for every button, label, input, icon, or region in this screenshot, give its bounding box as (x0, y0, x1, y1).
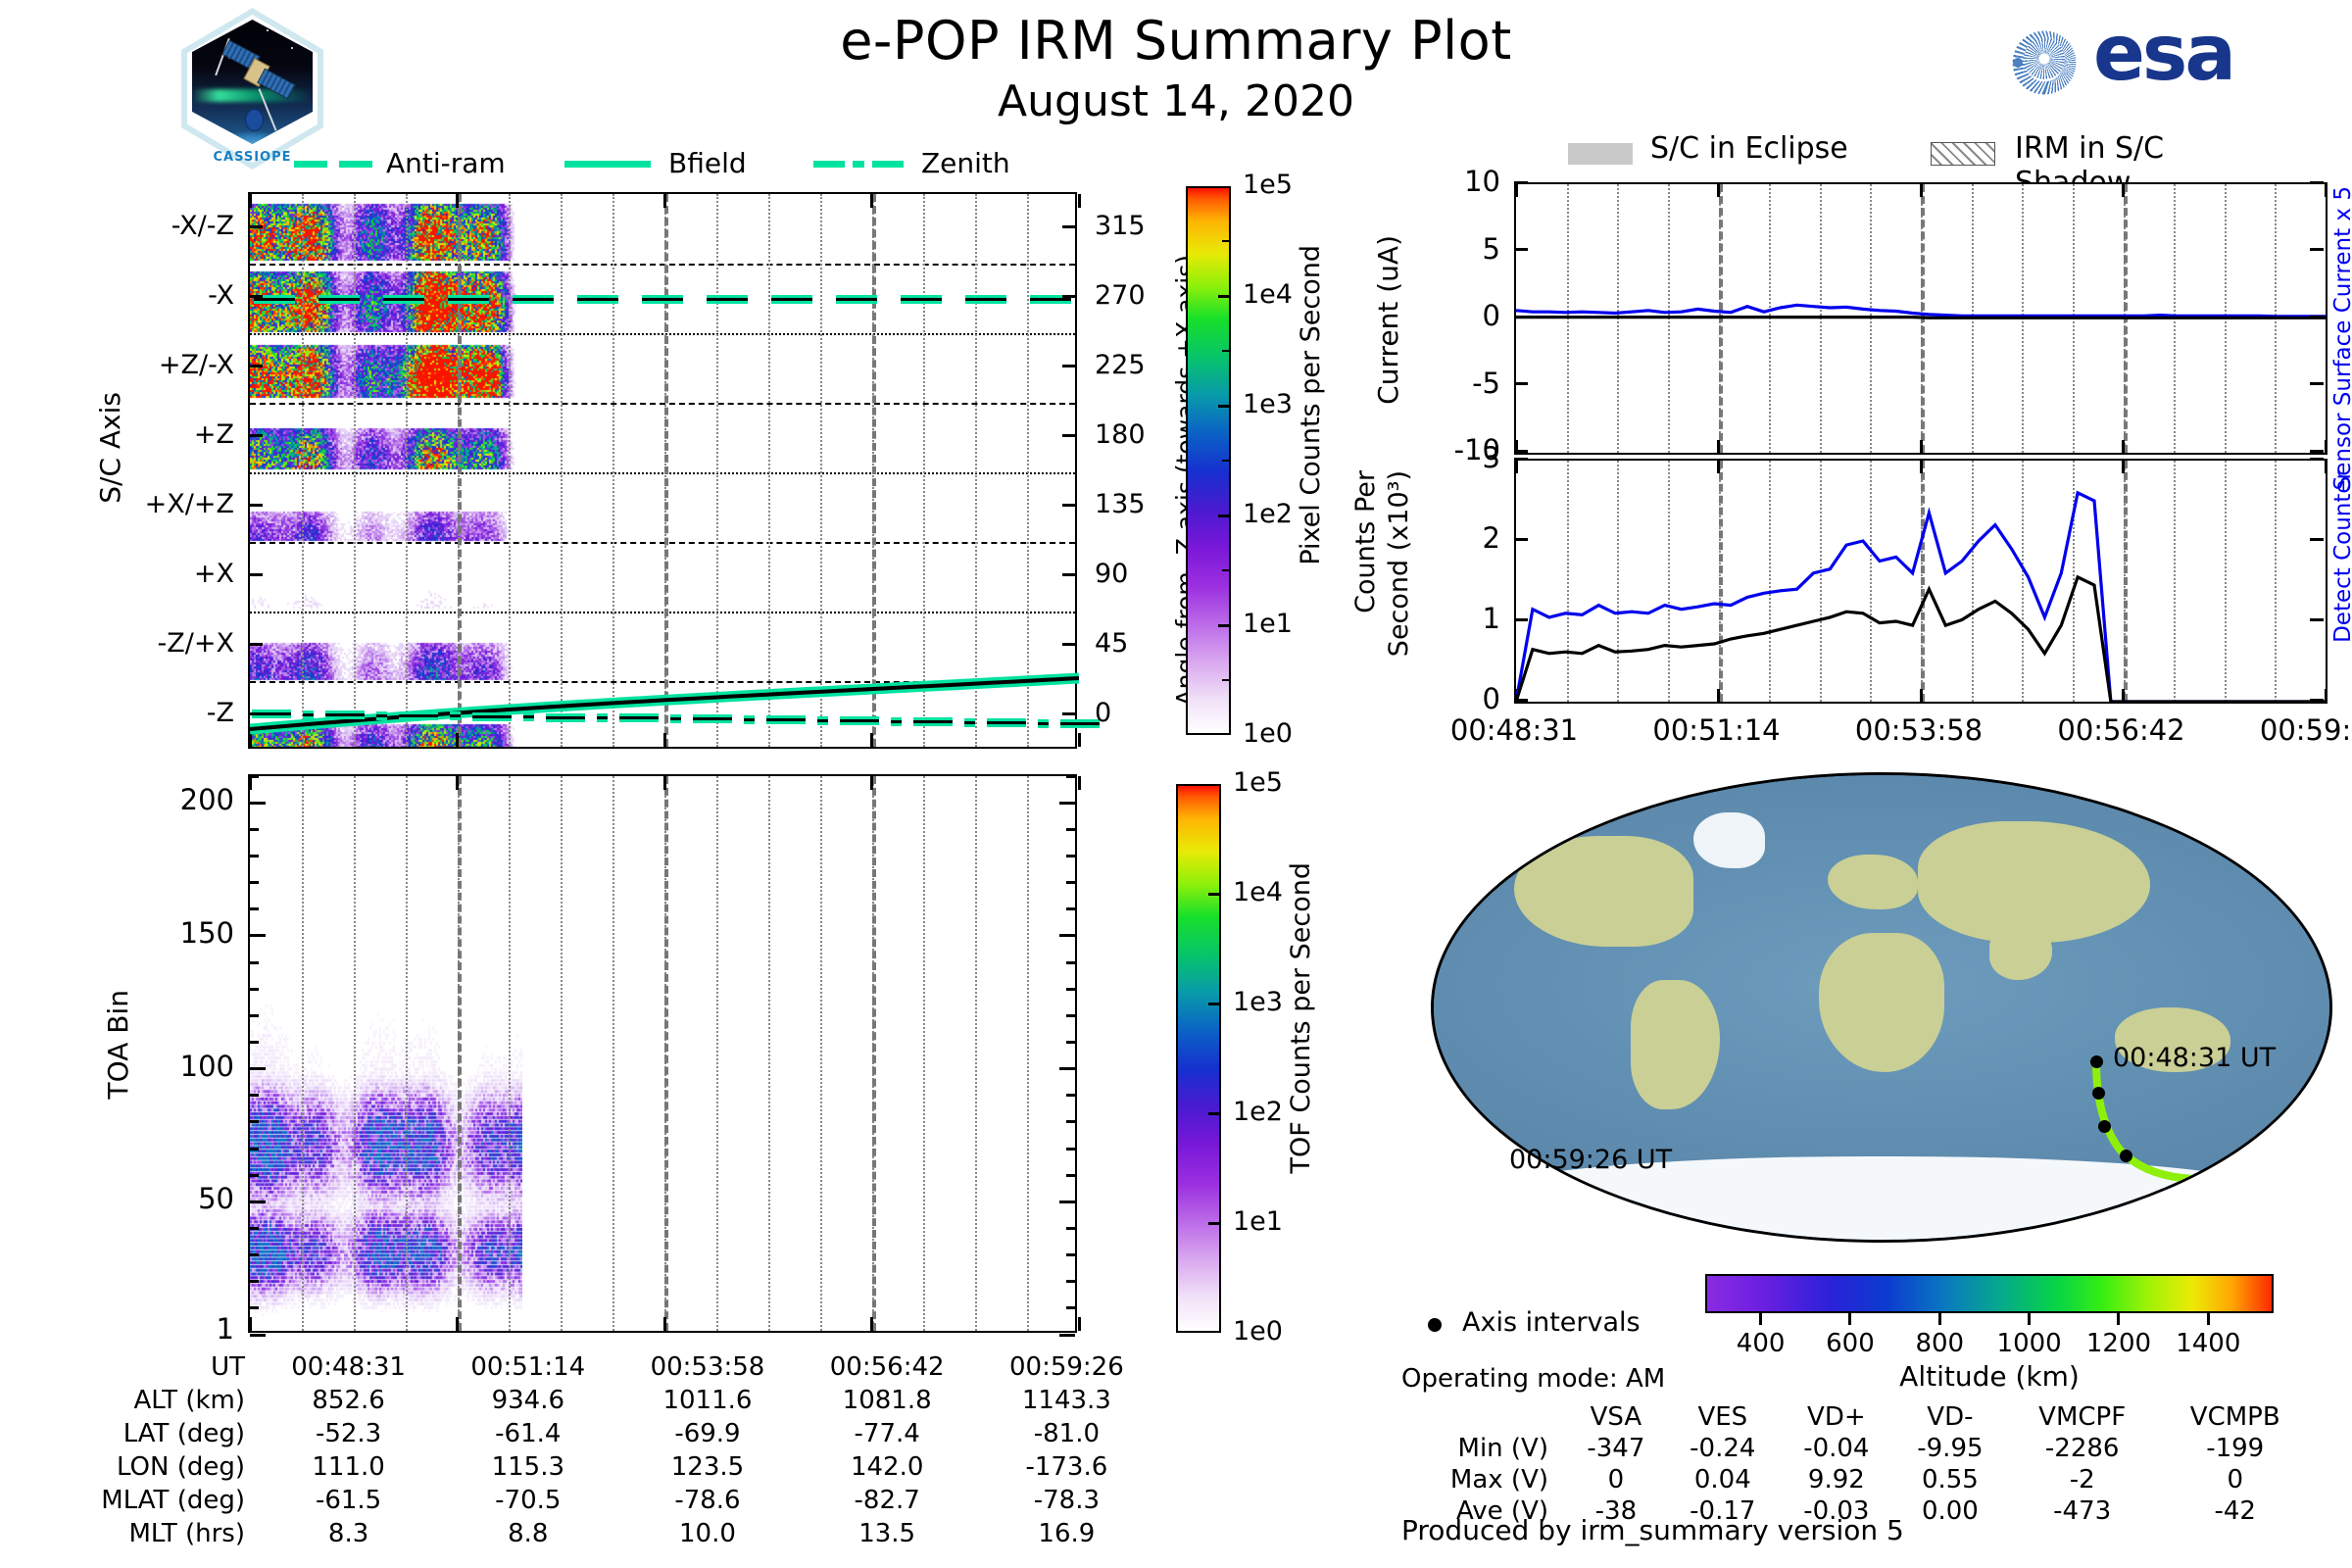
legend-swatch-bfield (564, 161, 651, 168)
ephemeris-cell: 00:51:14 (438, 1350, 617, 1384)
voltage-column-header: VSA (1566, 1401, 1666, 1433)
toa-ytick-label: 100 (101, 1050, 234, 1083)
toa-ytick (1066, 1148, 1075, 1151)
sc-axis-y2tick-mark (1062, 365, 1077, 367)
voltage-row-label: Max (V) (1401, 1464, 1566, 1495)
voltage-cell: -2 (2007, 1464, 2158, 1495)
sc-axis-ytick-label: +Z (77, 419, 234, 450)
altitude-tick-mark (2117, 1313, 2120, 1325)
eclipse-legend: S/C in Eclipse IRM in S/C Shadow (1529, 137, 2274, 172)
toa-ytick (1059, 802, 1075, 805)
zenith-trace (1060, 719, 1100, 728)
sc-axis-y2tick-label: 0 (1095, 698, 1183, 728)
pixel-colorbar-tick-mark (1218, 295, 1231, 298)
pixel-colorbar-minor-tick (1222, 240, 1231, 242)
voltage-column-header: VES (1666, 1401, 1780, 1433)
tof-colorbar-tick-label: 1e4 (1233, 877, 1283, 907)
pixel-colorbar-minor-tick (1222, 569, 1231, 571)
ephemeris-row: LON (deg)111.0115.3123.5142.0-173.6 (59, 1450, 1156, 1484)
ephemeris-cell: 1011.6 (617, 1384, 797, 1417)
sc-axis-y2tick-label: 270 (1095, 280, 1183, 311)
toa-ytick (250, 1067, 266, 1070)
zenith-core (399, 714, 438, 717)
toa-ytick-label: 200 (101, 783, 234, 816)
zenith-trace (303, 710, 314, 719)
toa-xtick (870, 776, 873, 790)
voltage-cell: -473 (2007, 1495, 2158, 1527)
legend-label-anti-ram: Anti-ram (386, 147, 506, 179)
ephemeris-cell: -69.9 (617, 1417, 797, 1450)
toa-ytick (1066, 1280, 1075, 1283)
esa-logo-text: esa (2093, 16, 2233, 92)
toa-ytick (1066, 1094, 1075, 1097)
ground-track-map: 00:48:31 UT 00:59:26 UT (1431, 772, 2332, 1243)
zenith-core (597, 716, 608, 719)
toa-ytick (1066, 1174, 1075, 1177)
bfield-trace (250, 194, 1079, 751)
toa-ytick (1066, 881, 1075, 884)
pixel-colorbar-minor-tick (1222, 679, 1231, 681)
ephemeris-cell: 852.6 (259, 1384, 438, 1417)
ephemeris-row-label: MLT (hrs) (59, 1517, 259, 1550)
altitude-tick-label: 1200 (2070, 1329, 2168, 1358)
voltage-cell: 0.00 (1893, 1495, 2007, 1527)
ephemeris-cell: 8.8 (438, 1517, 617, 1550)
counts-ytick-mark (1514, 699, 1528, 702)
zenith-core (619, 716, 659, 719)
toa-ytick (250, 828, 259, 831)
toa-ytick (250, 1280, 259, 1283)
toa-vgrid-minor (612, 776, 614, 1331)
current-ytick-mark (1514, 248, 1528, 251)
current-ytick-mark (1514, 316, 1528, 318)
zenith-trace (597, 713, 608, 722)
ephemeris-cell: 00:48:31 (259, 1350, 438, 1384)
sc-axis-y2tick-label: 135 (1095, 489, 1183, 519)
tof-counts-colorbar (1176, 784, 1221, 1333)
toa-vgrid-minor (354, 776, 356, 1331)
map-end-label: 00:59:26 UT (1509, 1145, 1672, 1175)
voltage-column-header: VD+ (1780, 1401, 1893, 1433)
sc-axis-ytick-mark (248, 295, 263, 298)
zenith-trace (964, 718, 975, 727)
zenith-core (913, 720, 953, 723)
toa-ytick (1059, 934, 1075, 937)
toa-vgrid-major (872, 776, 876, 1331)
toa-ytick (250, 1253, 259, 1256)
ephemeris-cell: -81.0 (977, 1417, 1156, 1450)
toa-vgrid-minor (820, 776, 822, 1331)
voltage-cell: -42 (2157, 1495, 2313, 1527)
counts-right-label-blue: Detect Counter (2330, 470, 2352, 643)
current-panel (1514, 182, 2327, 455)
toa-vgrid-major (458, 776, 462, 1331)
counts-xtick-label: 00:53:58 (1811, 713, 2027, 747)
voltage-cell: 0 (1566, 1464, 1666, 1495)
toa-ytick (250, 988, 259, 991)
tof-colorbar-tick-mark (1208, 1112, 1221, 1115)
toa-ytick-label: 1 (101, 1312, 234, 1346)
legend-swatch-shadow (1931, 142, 1995, 166)
track-endpoint-dot (1493, 1157, 1505, 1170)
zenith-core (1060, 722, 1100, 725)
voltage-corner-cell (1401, 1401, 1566, 1433)
sc-axis-y2tick-label: 90 (1095, 559, 1183, 589)
zenith-trace (891, 717, 902, 726)
toa-vgrid-major (664, 776, 668, 1331)
counts-ylabel-b: Second (x10³) (1384, 470, 1414, 657)
toa-xtick (249, 1317, 252, 1331)
ephemeris-cell: 13.5 (798, 1517, 977, 1550)
ephemeris-row: MLAT (deg)-61.5-70.5-78.6-82.7-78.3 (59, 1484, 1156, 1517)
zenith-trace (619, 713, 659, 722)
current-ytick-label: 0 (1412, 299, 1500, 332)
sc-axis-ytick-label: -X (77, 280, 234, 311)
sc-axis-ytick-mark (248, 573, 263, 576)
voltage-cell: 0.55 (1893, 1464, 2007, 1495)
sc-axis-y2tick-mark (1062, 573, 1077, 576)
pixel-colorbar-tick-mark (1218, 405, 1231, 408)
altitude-tick-label: 800 (1890, 1329, 1988, 1358)
voltage-cell: -199 (2157, 1433, 2313, 1464)
track-interval-dot (2098, 1120, 2111, 1133)
zenith-trace (325, 710, 365, 719)
voltage-cell: -347 (1566, 1433, 1666, 1464)
ephemeris-row-label: UT (59, 1350, 259, 1384)
toa-ytick (1066, 988, 1075, 991)
pixel-colorbar-tick-label: 1e5 (1243, 170, 1293, 200)
toa-vgrid-minor (561, 776, 563, 1331)
sc-axis-y2tick-label: 315 (1095, 211, 1183, 241)
ephemeris-cell: -61.5 (259, 1484, 438, 1517)
current-ytick-mark (2310, 382, 2324, 385)
pixel-colorbar-tick-label: 1e2 (1243, 499, 1293, 529)
sc-axis-y2tick-mark (1062, 712, 1077, 715)
toa-ytick (250, 881, 259, 884)
ephemeris-cell: -78.6 (617, 1484, 797, 1517)
toa-ytick (250, 1120, 259, 1123)
sc-axis-y2tick-mark (1062, 643, 1077, 646)
toa-vgrid-minor (768, 776, 770, 1331)
operating-mode-label: Operating mode: AM (1401, 1364, 1665, 1394)
toa-ytick (250, 1227, 259, 1230)
counts-ytick-mark (2310, 538, 2324, 541)
zenith-trace (670, 714, 681, 723)
voltage-row: Min (V)-347-0.24-0.04-9.95-2286-199 (1401, 1433, 2313, 1464)
counts-xtick-label: 00:51:14 (1609, 713, 1825, 747)
sc-axis-y2tick-label: 45 (1095, 628, 1183, 659)
toa-ytick (250, 934, 266, 937)
pixel-colorbar-tick-mark (1218, 514, 1231, 517)
esa-logo: esa (1999, 14, 2323, 112)
zenith-core (891, 720, 902, 723)
sc-axis-ytick-mark (248, 643, 263, 646)
zenith-core (546, 716, 585, 719)
axis-interval-dot-icon (1428, 1318, 1442, 1332)
altitude-tick-label: 400 (1712, 1329, 1810, 1358)
altitude-tick-mark (1938, 1313, 1941, 1325)
pixel-colorbar-tick-label: 1e3 (1243, 389, 1293, 419)
voltage-cell: -0.04 (1780, 1433, 1893, 1464)
toa-ytick (250, 1200, 266, 1203)
ephemeris-table: UT00:48:3100:51:1400:53:5800:56:4200:59:… (59, 1350, 1156, 1550)
sc-axis-ytick-label: -Z/+X (77, 628, 234, 659)
sc-axis-ytick-label: -Z (77, 698, 234, 728)
ephemeris-cell: 8.3 (259, 1517, 438, 1550)
toa-vgrid-minor (975, 776, 977, 1331)
zenith-trace (450, 711, 461, 720)
ephemeris-cell: 1143.3 (977, 1384, 1156, 1417)
track-interval-dot (2090, 1055, 2103, 1068)
toa-ytick (1066, 1041, 1075, 1044)
counts-ytick-label: 1 (1436, 602, 1500, 635)
voltage-cell: 0.04 (1666, 1464, 1780, 1495)
toa-ytick (1066, 1253, 1075, 1256)
ephemeris-row-label: LAT (deg) (59, 1417, 259, 1450)
toa-ytick (250, 907, 259, 910)
axis-interval-label: Axis intervals (1462, 1307, 1641, 1338)
toa-ytick-label: 50 (101, 1182, 234, 1215)
voltage-cell: -0.24 (1666, 1433, 1780, 1464)
tof-colorbar-tick-label: 1e2 (1233, 1097, 1283, 1127)
sc-axis-ytick-mark (248, 712, 263, 715)
counts-ytick-mark (2310, 618, 2324, 621)
ephemeris-cell: 115.3 (438, 1450, 617, 1484)
zenith-core (840, 719, 879, 722)
legend-label-bfield: Bfield (668, 147, 747, 179)
toa-xtick (870, 1317, 873, 1331)
altitude-tick-mark (2028, 1313, 2031, 1325)
sc-axis-ytick-label: +X (77, 559, 234, 589)
toa-ytick (250, 1014, 259, 1017)
zenith-core (523, 715, 534, 718)
toa-ytick (250, 1306, 259, 1309)
ephemeris-cell: 00:59:26 (977, 1350, 1156, 1384)
legend-label-zenith: Zenith (921, 147, 1010, 179)
toa-ytick (1066, 1120, 1075, 1123)
series-sensor-surface-current-x-5 (1516, 305, 2326, 317)
ephemeris-cell: 934.6 (438, 1384, 617, 1417)
ephemeris-cell: 142.0 (798, 1450, 977, 1484)
series-sensor-surface-current (1516, 318, 2326, 318)
legend-swatch-zenith-2 (872, 161, 904, 168)
zenith-trace (546, 713, 585, 722)
counts-traces (1516, 461, 2326, 702)
toa-ytick (1066, 1306, 1075, 1309)
toa-ytick (250, 775, 259, 778)
counts-ytick-mark (1514, 618, 1528, 621)
toa-bin-spectrogram-panel (248, 774, 1077, 1333)
zenith-core (964, 721, 975, 724)
toa-xtick (1078, 776, 1081, 790)
sc-axis-y2tick-mark (1062, 504, 1077, 507)
zenith-trace (376, 711, 387, 720)
series-hit-counter (1516, 577, 2326, 702)
toa-vgrid-minor (923, 776, 925, 1331)
ephemeris-cell: -78.3 (977, 1484, 1156, 1517)
ephemeris-row: LAT (deg)-52.3-61.4-69.9-77.4-81.0 (59, 1417, 1156, 1450)
toa-xtick (456, 776, 459, 790)
legend-swatch-zenith (813, 161, 845, 168)
ephemeris-cell: 16.9 (977, 1517, 1156, 1550)
sc-axis-ytick-mark (248, 504, 263, 507)
track-interval-dot (2120, 1150, 2132, 1162)
pixel-colorbar-minor-tick (1222, 350, 1231, 352)
current-ytick-mark (2310, 248, 2324, 251)
voltage-column-header: VCMPB (2157, 1401, 2313, 1433)
counts-ytick-mark (2310, 699, 2324, 702)
zenith-core (693, 717, 732, 720)
current-traces (1516, 184, 2326, 453)
current-ytick-label: -5 (1412, 367, 1500, 400)
toa-ytick (250, 1174, 259, 1177)
altitude-tick-mark (1759, 1313, 1762, 1325)
pixel-colorbar-tick-label: 1e1 (1243, 609, 1293, 639)
toa-ytick (1066, 855, 1075, 857)
toa-ytick (250, 802, 266, 805)
esa-mark-icon (1999, 18, 2089, 108)
altitude-tick-mark (2207, 1313, 2210, 1325)
toa-ytick (250, 1334, 266, 1337)
toa-ytick (1066, 907, 1075, 910)
zenith-trace (399, 711, 438, 720)
current-ytick-mark (1514, 181, 1528, 184)
counts-ylabel: Counts Per Second (x10³) (1350, 470, 1419, 696)
sc-axis-ytick-mark (248, 225, 263, 228)
voltage-cell: 0 (2157, 1464, 2313, 1495)
altitude-colorbar (1705, 1274, 2274, 1313)
sc-axis-ytick-mark (248, 434, 263, 437)
sc-axis-y2tick-mark (1062, 225, 1077, 228)
legend-swatch-anti-ram (294, 161, 327, 168)
sc-axis-legend: Anti-ram Bfield Zenith (284, 147, 1029, 180)
zenith-trace (817, 716, 828, 725)
toa-ytick (250, 1041, 259, 1044)
toa-ytick (1066, 775, 1075, 778)
zenith-core (450, 714, 461, 717)
voltage-cell: 9.92 (1780, 1464, 1893, 1495)
sc-axis-y2tick-mark (1062, 295, 1077, 298)
toa-ytick (1059, 1334, 1075, 1337)
toa-ytick (250, 1094, 259, 1097)
map-start-label: 00:48:31 UT (2113, 1043, 2276, 1073)
zenith-core (472, 715, 512, 718)
zenith-trace (987, 718, 1026, 727)
toa-ytick (1066, 1014, 1075, 1017)
pixel-colorbar-tick-label: 1e0 (1243, 718, 1293, 749)
current-ytick-label: 10 (1412, 165, 1500, 198)
altitude-tick-label: 600 (1801, 1329, 1899, 1358)
ephemeris-row-label: LON (deg) (59, 1450, 259, 1484)
series-detect-counter (1516, 493, 2326, 702)
current-ytick-mark (2310, 181, 2324, 184)
zenith-core (1038, 722, 1049, 725)
toa-ytick-label: 150 (101, 916, 234, 950)
zenith-core (670, 717, 681, 720)
current-ytick-mark (2310, 316, 2324, 318)
ephemeris-cell: -70.5 (438, 1484, 617, 1517)
counts-xtick-label: 00:59:26 (2216, 713, 2352, 747)
sc-axis-spectrogram-panel (248, 192, 1077, 749)
voltage-cell: -9.95 (1893, 1433, 2007, 1464)
ephemeris-cell: -77.4 (798, 1417, 977, 1450)
pixel-colorbar-minor-tick (1222, 460, 1231, 462)
ephemeris-cell: -61.4 (438, 1417, 617, 1450)
current-ytick-label: 5 (1412, 232, 1500, 266)
zenith-trace (693, 714, 732, 723)
toa-xtick (456, 1317, 459, 1331)
counts-ytick-mark (2310, 458, 2324, 461)
counts-ylabel-a: Counts Per (1350, 470, 1381, 613)
ephemeris-cell: 00:53:58 (617, 1350, 797, 1384)
zenith-trace (1038, 719, 1049, 728)
altitude-tick-label: 1400 (2159, 1329, 2257, 1358)
zenith-trace (523, 712, 534, 721)
ephemeris-row: MLT (hrs)8.38.810.013.516.9 (59, 1517, 1156, 1550)
zenith-core (817, 719, 828, 722)
altitude-tick-mark (1848, 1313, 1851, 1325)
legend-swatch-anti-ram-2 (339, 161, 372, 168)
voltage-column-header: VD- (1893, 1401, 2007, 1433)
toa-xtick (663, 1317, 666, 1331)
toa-ytick (1066, 828, 1075, 831)
toa-xtick (249, 776, 252, 790)
ephemeris-cell: -52.3 (259, 1417, 438, 1450)
zenith-core (376, 714, 387, 717)
ephemeris-cell: -173.6 (977, 1450, 1156, 1484)
zenith-trace (744, 715, 755, 724)
current-ytick-mark (1514, 382, 1528, 385)
toa-ytick (1066, 961, 1075, 964)
legend-label-eclipse: S/C in Eclipse (1650, 131, 1848, 166)
voltage-row: Max (V)00.049.920.55-20 (1401, 1464, 2313, 1495)
zenith-trace (472, 712, 512, 721)
ephemeris-cell: 123.5 (617, 1450, 797, 1484)
legend-swatch-zenith-dot (853, 161, 864, 168)
sc-axis-y2tick-mark (1062, 434, 1077, 437)
ephemeris-cell: -82.7 (798, 1484, 977, 1517)
tof-counts-colorbar-label: TOF Counts per Second (1286, 862, 1316, 1174)
zenith-trace (766, 715, 806, 724)
toa-ytick (1059, 1067, 1075, 1070)
voltage-cell: -2286 (2007, 1433, 2158, 1464)
pixel-colorbar-tick-mark (1218, 624, 1231, 627)
current-ylabel: Current (uA) (1372, 235, 1404, 405)
ephemeris-row-label: ALT (km) (59, 1384, 259, 1417)
toa-noise-canvas (250, 776, 522, 1331)
zenith-core (744, 718, 755, 721)
tof-colorbar-tick-mark (1208, 1003, 1221, 1005)
tof-colorbar-tick-label: 1e0 (1233, 1316, 1283, 1347)
toa-bin-ylabel: TOA Bin (102, 990, 134, 1099)
toa-ytick (1066, 1227, 1075, 1230)
sc-axis-ytick-label: +X/+Z (77, 489, 234, 519)
toa-ytick (250, 961, 259, 964)
voltage-row-label: Min (V) (1401, 1433, 1566, 1464)
voltage-table: VSAVESVD+VD-VMCPFVCMPBMin (V)-347-0.24-0… (1401, 1401, 2313, 1527)
cassiope-logo: CASSIOPE (181, 8, 323, 170)
sc-axis-y2tick-label: 225 (1095, 350, 1183, 380)
counts-panel (1514, 459, 2327, 704)
tof-colorbar-tick-mark (1208, 893, 1221, 896)
track-interval-dot (2092, 1087, 2105, 1100)
toa-vgrid-minor (302, 776, 304, 1331)
tof-colorbar-tick-label: 1e3 (1233, 987, 1283, 1017)
ephemeris-row: ALT (km)852.6934.61011.61081.81143.3 (59, 1384, 1156, 1417)
counts-ytick-label: 0 (1436, 682, 1500, 715)
current-ytick-mark (1514, 450, 1528, 453)
ephemeris-row: UT00:48:3100:51:1400:53:5800:56:4200:59:… (59, 1350, 1156, 1384)
